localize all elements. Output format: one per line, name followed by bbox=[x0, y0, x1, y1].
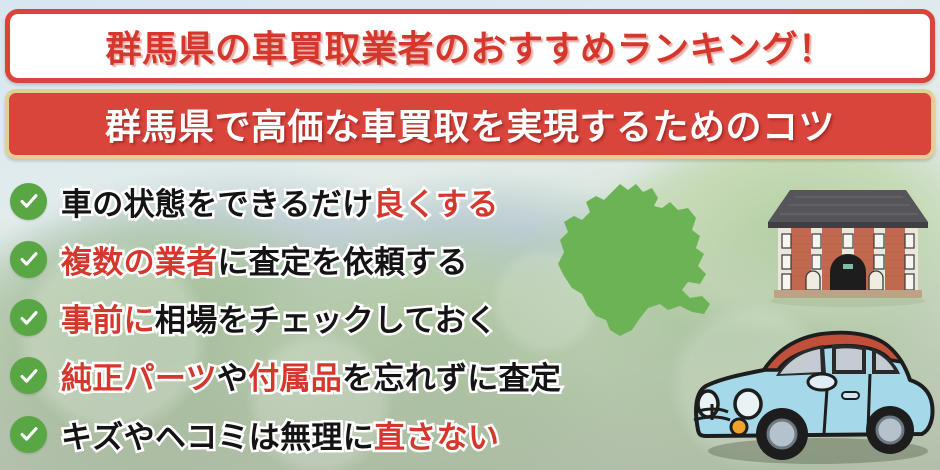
checklist-item-text: 純正パーツや付属品を忘れずに査定 bbox=[61, 353, 561, 398]
tips-checklist: 車の状態をできるだけ良くする複数の業者に査定を依頼する事前に相場をチェックしてお… bbox=[10, 172, 710, 462]
tomioka-silk-mill-building-illustration bbox=[762, 174, 934, 308]
checklist-item: 車の状態をできるだけ良くする bbox=[10, 177, 710, 225]
plain-phrase: キズやヘコミは無理に bbox=[61, 420, 374, 456]
plain-phrase: を忘れずに査定 bbox=[342, 361, 561, 397]
retro-car-illustration bbox=[690, 312, 940, 470]
banner-canvas: 群馬県の車買取業者のおすすめランキング！ 群馬県で高価な車買取を実現するためのコ… bbox=[0, 0, 940, 470]
primary-heading-text: 群馬県の車買取業者のおすすめランキング！ bbox=[106, 20, 835, 72]
highlighted-phrase: 付属品 bbox=[248, 361, 342, 397]
checklist-item: 純正パーツや付属品を忘れずに査定 bbox=[10, 352, 710, 400]
checklist-item-text: キズやヘコミは無理に直さない bbox=[61, 412, 499, 457]
plain-phrase: 車の状態をできるだけ bbox=[61, 187, 373, 223]
highlighted-phrase: 事前に bbox=[61, 303, 155, 339]
check-circle-icon bbox=[10, 241, 47, 278]
check-circle-icon bbox=[10, 183, 47, 220]
highlighted-phrase: 複数の業者 bbox=[61, 245, 218, 281]
secondary-heading-text: 群馬県で高価な車買取を実現するためのコツ bbox=[105, 98, 835, 150]
primary-heading-box: 群馬県の車買取業者のおすすめランキング！ bbox=[5, 9, 935, 83]
check-circle-icon bbox=[10, 416, 47, 453]
secondary-heading-box: 群馬県で高価な車買取を実現するためのコツ bbox=[5, 89, 935, 159]
checklist-item-text: 事前に相場をチェックしておく bbox=[61, 295, 497, 340]
check-circle-icon bbox=[10, 357, 47, 394]
checklist-item-text: 複数の業者に査定を依頼する bbox=[61, 237, 468, 282]
checklist-item: 事前に相場をチェックしておく bbox=[10, 294, 710, 342]
checklist-item: キズやヘコミは無理に直さない bbox=[10, 410, 710, 458]
highlighted-phrase: 直さない bbox=[374, 420, 499, 456]
plain-phrase: 相場をチェックしておく bbox=[155, 303, 497, 339]
highlighted-phrase: 純正パーツ bbox=[61, 361, 217, 397]
check-circle-icon bbox=[10, 299, 47, 336]
plain-phrase: や bbox=[217, 361, 248, 397]
checklist-item: 複数の業者に査定を依頼する bbox=[10, 235, 710, 283]
checklist-item-text: 車の状態をできるだけ良くする bbox=[61, 179, 499, 224]
highlighted-phrase: 良くする bbox=[373, 187, 498, 223]
plain-phrase: に査定を依頼する bbox=[218, 245, 468, 281]
